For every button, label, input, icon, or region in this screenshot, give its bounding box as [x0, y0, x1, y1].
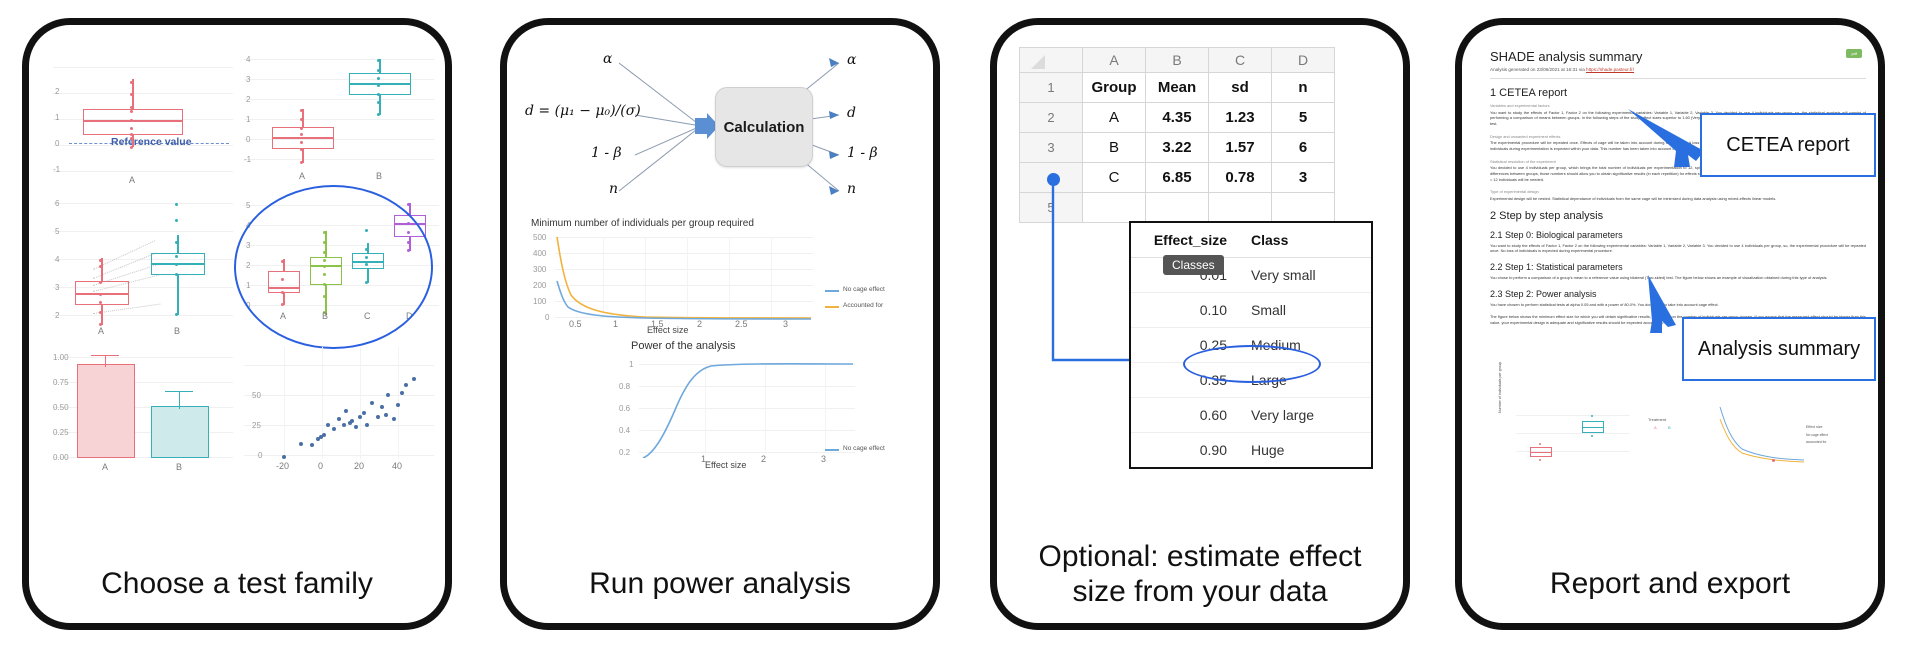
y-tick: 0.2 — [619, 448, 630, 457]
x-tick: 2 — [761, 454, 766, 464]
y-tick: 0.00 — [53, 453, 69, 462]
y-tick: 25 — [252, 421, 261, 430]
column-header-class: Class — [1241, 223, 1371, 258]
highlight-ellipse — [234, 185, 433, 349]
input-alpha: α — [603, 51, 612, 67]
y-tick: 6 — [55, 199, 59, 208]
y-tick: 5 — [246, 201, 250, 210]
callout-analysis-summary: Analysis summary — [1682, 317, 1876, 381]
panel-run-power-analysis: α d = (μ₁ − μ₀)/(σ) 1 - β n Calculation … — [500, 18, 940, 630]
effect-size-value: 0.10 — [1131, 293, 1241, 328]
x-tick: A — [102, 462, 108, 472]
panel-2-content: α d = (μ₁ − μ₀)/(σ) 1 - β n Calculation … — [507, 25, 933, 623]
y-tick: 0.4 — [619, 426, 630, 435]
panel-4-caption: Report and export — [1462, 567, 1878, 602]
panel-1-content: 2 1 0 -1 Reference value A — [29, 25, 445, 623]
x-tick: -20 — [276, 461, 289, 471]
panel-estimate-effect-size: A B C D 1 Group Mean sd n 2 A 4.35 1.23 — [990, 18, 1410, 630]
panel-2-caption: Run power analysis — [507, 567, 933, 602]
y-tick: 1 — [246, 115, 250, 124]
chart-paired: 6 5 4 3 2 — [53, 193, 233, 338]
y-tick: -1 — [244, 155, 251, 164]
effect-size-class: Very small — [1241, 258, 1371, 293]
chart-two-group: 4 3 2 1 0 -1 — [244, 51, 434, 186]
y-tick: 100 — [533, 297, 546, 306]
chart-min-individuals: 500 400 300 200 100 0 0.5 1 1.5 2 2.5 3 — [533, 233, 813, 323]
effect-size-value: 0.90 — [1131, 433, 1241, 468]
chart-power-title: Power of the analysis — [631, 340, 736, 352]
x-tick: 3 — [821, 454, 826, 464]
y-tick: 500 — [533, 233, 546, 242]
x-tick: B — [376, 171, 382, 181]
column-header-effect-size: Effect_size — [1131, 223, 1241, 258]
y-tick: 400 — [533, 249, 546, 258]
table-row[interactable]: 0.60 Very large — [1131, 398, 1371, 433]
chart-n-xlabel: Effect size — [647, 325, 688, 335]
y-tick: 5 — [55, 227, 59, 236]
chart-correlation: 50 25 0 — [244, 347, 434, 477]
y-tick: 1 — [629, 360, 633, 369]
x-tick: 2 — [697, 319, 702, 329]
x-tick: A — [299, 171, 305, 181]
panel-report-and-export: pdf SHADE analysis summary Analysis gene… — [1455, 18, 1885, 630]
y-tick: 0.8 — [619, 382, 630, 391]
calculation-box: Calculation — [715, 87, 813, 167]
legend-swatch — [825, 449, 839, 451]
output-n: n — [847, 181, 856, 197]
input-power: 1 - β — [591, 145, 622, 161]
legend-label: No cage effect — [843, 445, 885, 452]
chart-power-xlabel: Effect size — [705, 460, 746, 470]
x-tick: 2.5 — [735, 319, 748, 329]
table-row[interactable]: 0.90 Huge — [1131, 433, 1371, 468]
y-tick: 200 — [533, 281, 546, 290]
x-tick: 3 — [783, 319, 788, 329]
callout-arrows — [1462, 25, 1878, 445]
y-tick: 1.00 — [53, 353, 69, 362]
classes-tooltip: Classes — [1163, 255, 1224, 275]
y-tick: 3 — [246, 75, 250, 84]
panel-3-caption-line1: Optional: estimate effect — [997, 540, 1403, 575]
y-tick: 0.50 — [53, 403, 69, 412]
y-tick: 0.6 — [619, 404, 630, 413]
y-tick: 0 — [545, 313, 549, 322]
x-tick: B — [174, 326, 180, 336]
panel-3-content: A B C D 1 Group Mean sd n 2 A 4.35 1.23 — [997, 25, 1403, 623]
y-tick: 300 — [533, 265, 546, 274]
y-tick: 3 — [55, 283, 59, 292]
y-tick: 2 — [55, 87, 59, 96]
input-effect-size-formula: d = (μ₁ − μ₀)/(σ) — [525, 103, 641, 119]
panel-3-caption: Optional: estimate effect size from your… — [997, 540, 1403, 609]
x-tick: 40 — [392, 461, 402, 471]
x-tick: 20 — [354, 461, 364, 471]
legend-swatch — [825, 306, 839, 308]
effect-size-class: Small — [1241, 293, 1371, 328]
y-tick: -1 — [53, 165, 60, 174]
chart-power-of-analysis: 1 0.8 0.6 0.4 0.2 1 2 3 — [615, 358, 855, 458]
panel-choose-test-family: 2 1 0 -1 Reference value A — [22, 18, 452, 630]
legend-label: No cage effect — [843, 286, 885, 293]
table-row[interactable]: 0.10 Small — [1131, 293, 1371, 328]
output-d: d — [847, 105, 856, 121]
y-tick: 2 — [55, 311, 59, 320]
x-tick: 1 — [613, 319, 618, 329]
chart-n-title: Minimum number of individuals per group … — [531, 218, 754, 229]
y-tick: 0 — [258, 451, 262, 460]
x-tick: B — [176, 462, 182, 472]
x-tick: A — [98, 326, 104, 336]
input-n: n — [609, 181, 618, 197]
x-tick: A — [129, 175, 135, 185]
highlight-ellipse-large — [1183, 345, 1321, 383]
effect-size-class: Very large — [1241, 398, 1371, 433]
chart-one-sample: 2 1 0 -1 Reference value A — [53, 51, 233, 186]
panel-3-caption-line2: size from your data — [997, 575, 1403, 610]
workflow-diagram: 2 1 0 -1 Reference value A — [0, 0, 1906, 660]
panel-4-content: pdf SHADE analysis summary Analysis gene… — [1462, 25, 1878, 623]
effect-size-value: 0.60 — [1131, 398, 1241, 433]
y-tick: 1 — [55, 113, 59, 122]
y-tick: 4 — [246, 55, 250, 64]
output-power: 1 - β — [847, 145, 878, 161]
y-tick: 4 — [55, 255, 59, 264]
y-tick: 50 — [252, 391, 261, 400]
y-tick: 0.75 — [53, 378, 69, 387]
y-tick: 0 — [246, 135, 250, 144]
reference-value-label: Reference value — [111, 136, 192, 148]
chart-proportion: 1.00 0.75 0.50 0.25 0.00 A B — [53, 347, 233, 477]
x-tick: 0.5 — [569, 319, 582, 329]
callout-cetea-report: CETEA report — [1700, 113, 1876, 177]
legend-label: Accounted for — [843, 302, 883, 309]
effect-table-header: Effect_size Class — [1131, 223, 1371, 258]
y-tick: 0 — [55, 139, 59, 148]
y-tick: 2 — [246, 95, 250, 104]
legend-swatch — [825, 290, 839, 292]
panel-1-caption: Choose a test family — [29, 567, 445, 602]
y-tick: 0.25 — [53, 428, 69, 437]
x-tick: 0 — [318, 461, 323, 471]
output-alpha: α — [847, 52, 856, 68]
effect-size-class: Huge — [1241, 433, 1371, 468]
